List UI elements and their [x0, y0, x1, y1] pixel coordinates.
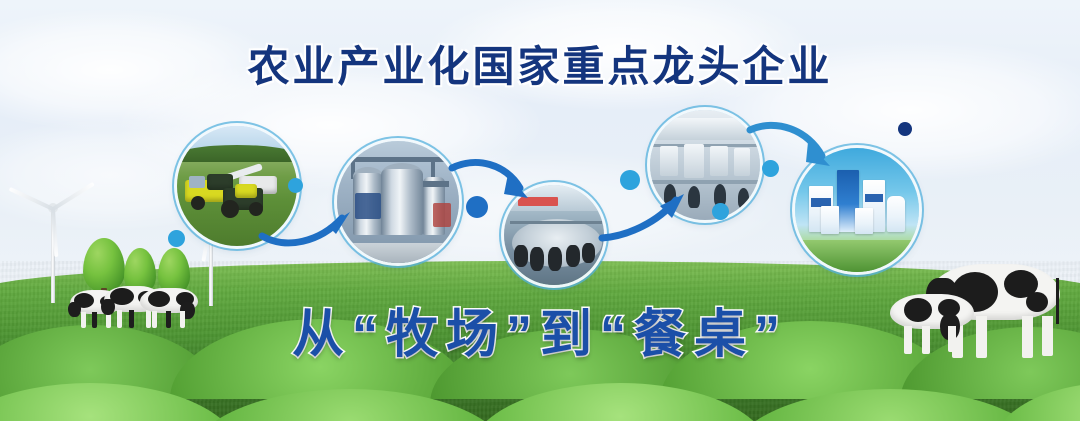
cow-in-parlor: [514, 245, 528, 267]
accent-dot-5: [712, 203, 729, 220]
cow-in-parlor: [548, 247, 562, 271]
plant-machine: [684, 144, 704, 178]
accent-dot-7: [898, 122, 912, 136]
plant-machine: [710, 146, 728, 176]
product-ground: [795, 240, 919, 272]
milk-carton-small: [855, 208, 873, 234]
process-arrow-3: [600, 194, 700, 252]
plant-worker: [738, 188, 749, 208]
turbine-blade: [52, 182, 95, 211]
silo-machinery: [433, 203, 451, 227]
harvester-wheel: [191, 196, 205, 210]
harvester-cab: [189, 176, 205, 188]
dairy-industry-banner: 农业产业化国家重点龙头企业 从“牧场”到“餐桌”: [0, 0, 1080, 421]
tractor-wheel: [221, 200, 239, 218]
milk-carton-small: [821, 206, 839, 234]
slogan-text: 从“牧场”到“餐桌”: [0, 292, 1080, 367]
hill: [190, 389, 510, 421]
accent-dot-2: [288, 178, 303, 193]
page-title: 农业产业化国家重点龙头企业: [0, 33, 1080, 94]
cow-in-parlor: [530, 247, 544, 271]
accent-dot-3: [466, 196, 488, 218]
accent-dot-1: [168, 230, 185, 247]
parlor-rail: [510, 221, 602, 224]
hill: [730, 389, 1050, 421]
tractor-hood: [235, 184, 257, 198]
silo-tank-main: [381, 169, 423, 235]
plant-ceiling-unit: [656, 118, 754, 140]
plant-machine: [660, 146, 678, 176]
carton-band: [865, 194, 883, 202]
hill-layer-front: [0, 381, 1080, 421]
hill: [0, 383, 240, 421]
accent-dot-6: [762, 160, 779, 177]
process-arrow-2: [450, 158, 542, 216]
plant-conveyor: [650, 180, 760, 184]
silo-duct: [423, 181, 449, 187]
accent-dot-4: [620, 170, 640, 190]
turbine-blade: [9, 187, 54, 211]
cow-in-parlor: [566, 245, 580, 267]
photo-treeline: [177, 145, 297, 162]
tree-crown: [83, 238, 125, 292]
hill: [470, 383, 770, 421]
process-arrow-1: [258, 196, 368, 248]
cow-in-parlor: [582, 243, 595, 263]
milk-bottle: [887, 196, 905, 232]
